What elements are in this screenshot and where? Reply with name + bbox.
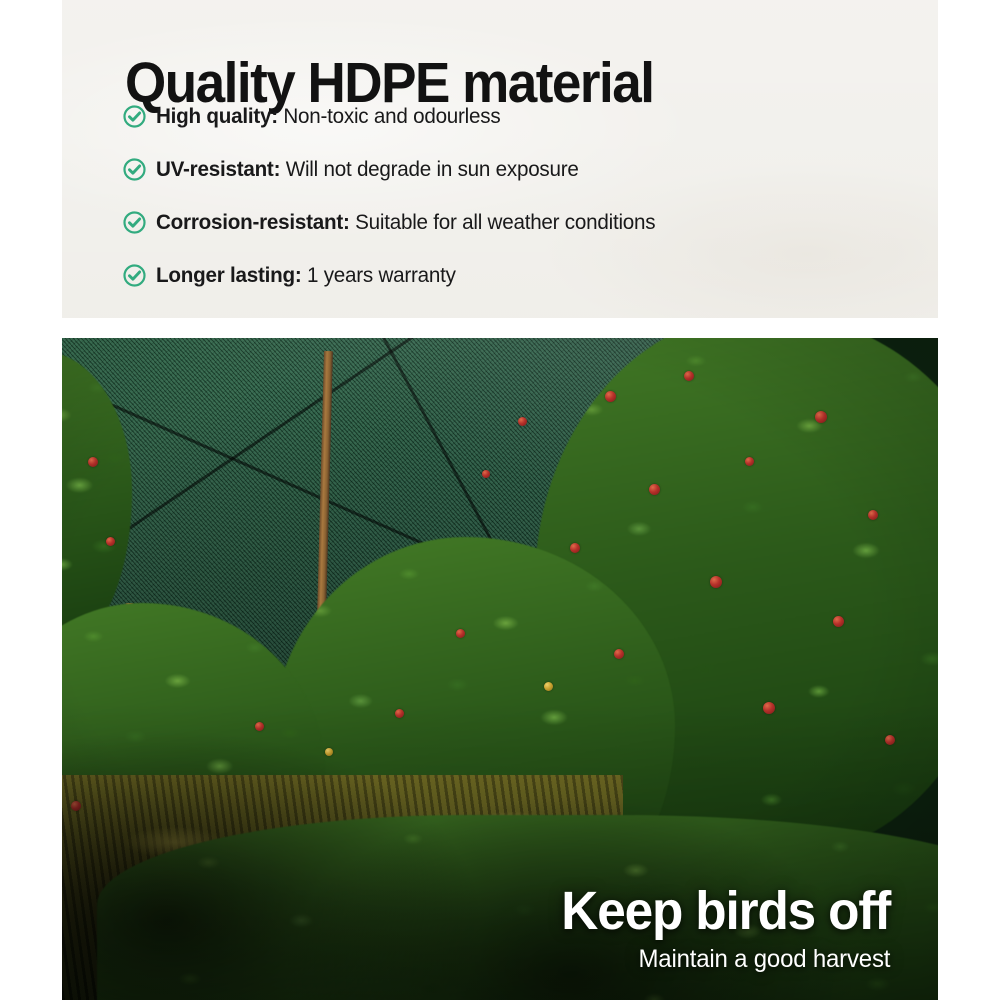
check-circle-icon — [122, 210, 147, 235]
list-item: High quality: Non-toxic and odourless — [122, 90, 932, 143]
check-circle-icon — [122, 157, 147, 182]
feature-text: Longer lasting: 1 years warranty — [156, 263, 456, 288]
check-circle-icon — [122, 263, 147, 288]
photo-caption: Keep birds off Maintain a good harvest — [544, 884, 890, 972]
feature-lead: Corrosion-resistant: — [156, 210, 350, 234]
feature-detail: Will not degrade in sun exposure — [286, 157, 579, 181]
check-circle-icon — [122, 104, 147, 129]
feature-detail: Non-toxic and odourless — [283, 104, 500, 128]
caption-subtitle: Maintain a good harvest — [558, 947, 890, 972]
feature-lead: Longer lasting: — [156, 263, 301, 287]
feature-lead: UV-resistant: — [156, 157, 280, 181]
feature-detail: Suitable for all weather conditions — [355, 210, 655, 234]
list-item: Corrosion-resistant: Suitable for all we… — [122, 196, 932, 249]
top-panel-content: Quality HDPE material High quality: Non-… — [62, 0, 938, 318]
feature-text: Corrosion-resistant: Suitable for all we… — [156, 210, 655, 235]
orchard-photo-panel: Keep birds off Maintain a good harvest — [62, 338, 938, 1000]
hdpe-material-panel: Quality HDPE material High quality: Non-… — [62, 0, 938, 318]
feature-lead: High quality: — [156, 104, 278, 128]
feature-text: UV-resistant: Will not degrade in sun ex… — [156, 157, 579, 182]
feature-list: High quality: Non-toxic and odourless UV… — [122, 90, 932, 302]
feature-detail: 1 years warranty — [307, 263, 456, 287]
product-infographic: Quality HDPE material High quality: Non-… — [0, 0, 1000, 1000]
caption-title: Keep birds off — [561, 884, 890, 938]
list-item: Longer lasting: 1 years warranty — [122, 249, 932, 302]
feature-text: High quality: Non-toxic and odourless — [156, 104, 500, 129]
list-item: UV-resistant: Will not degrade in sun ex… — [122, 143, 932, 196]
